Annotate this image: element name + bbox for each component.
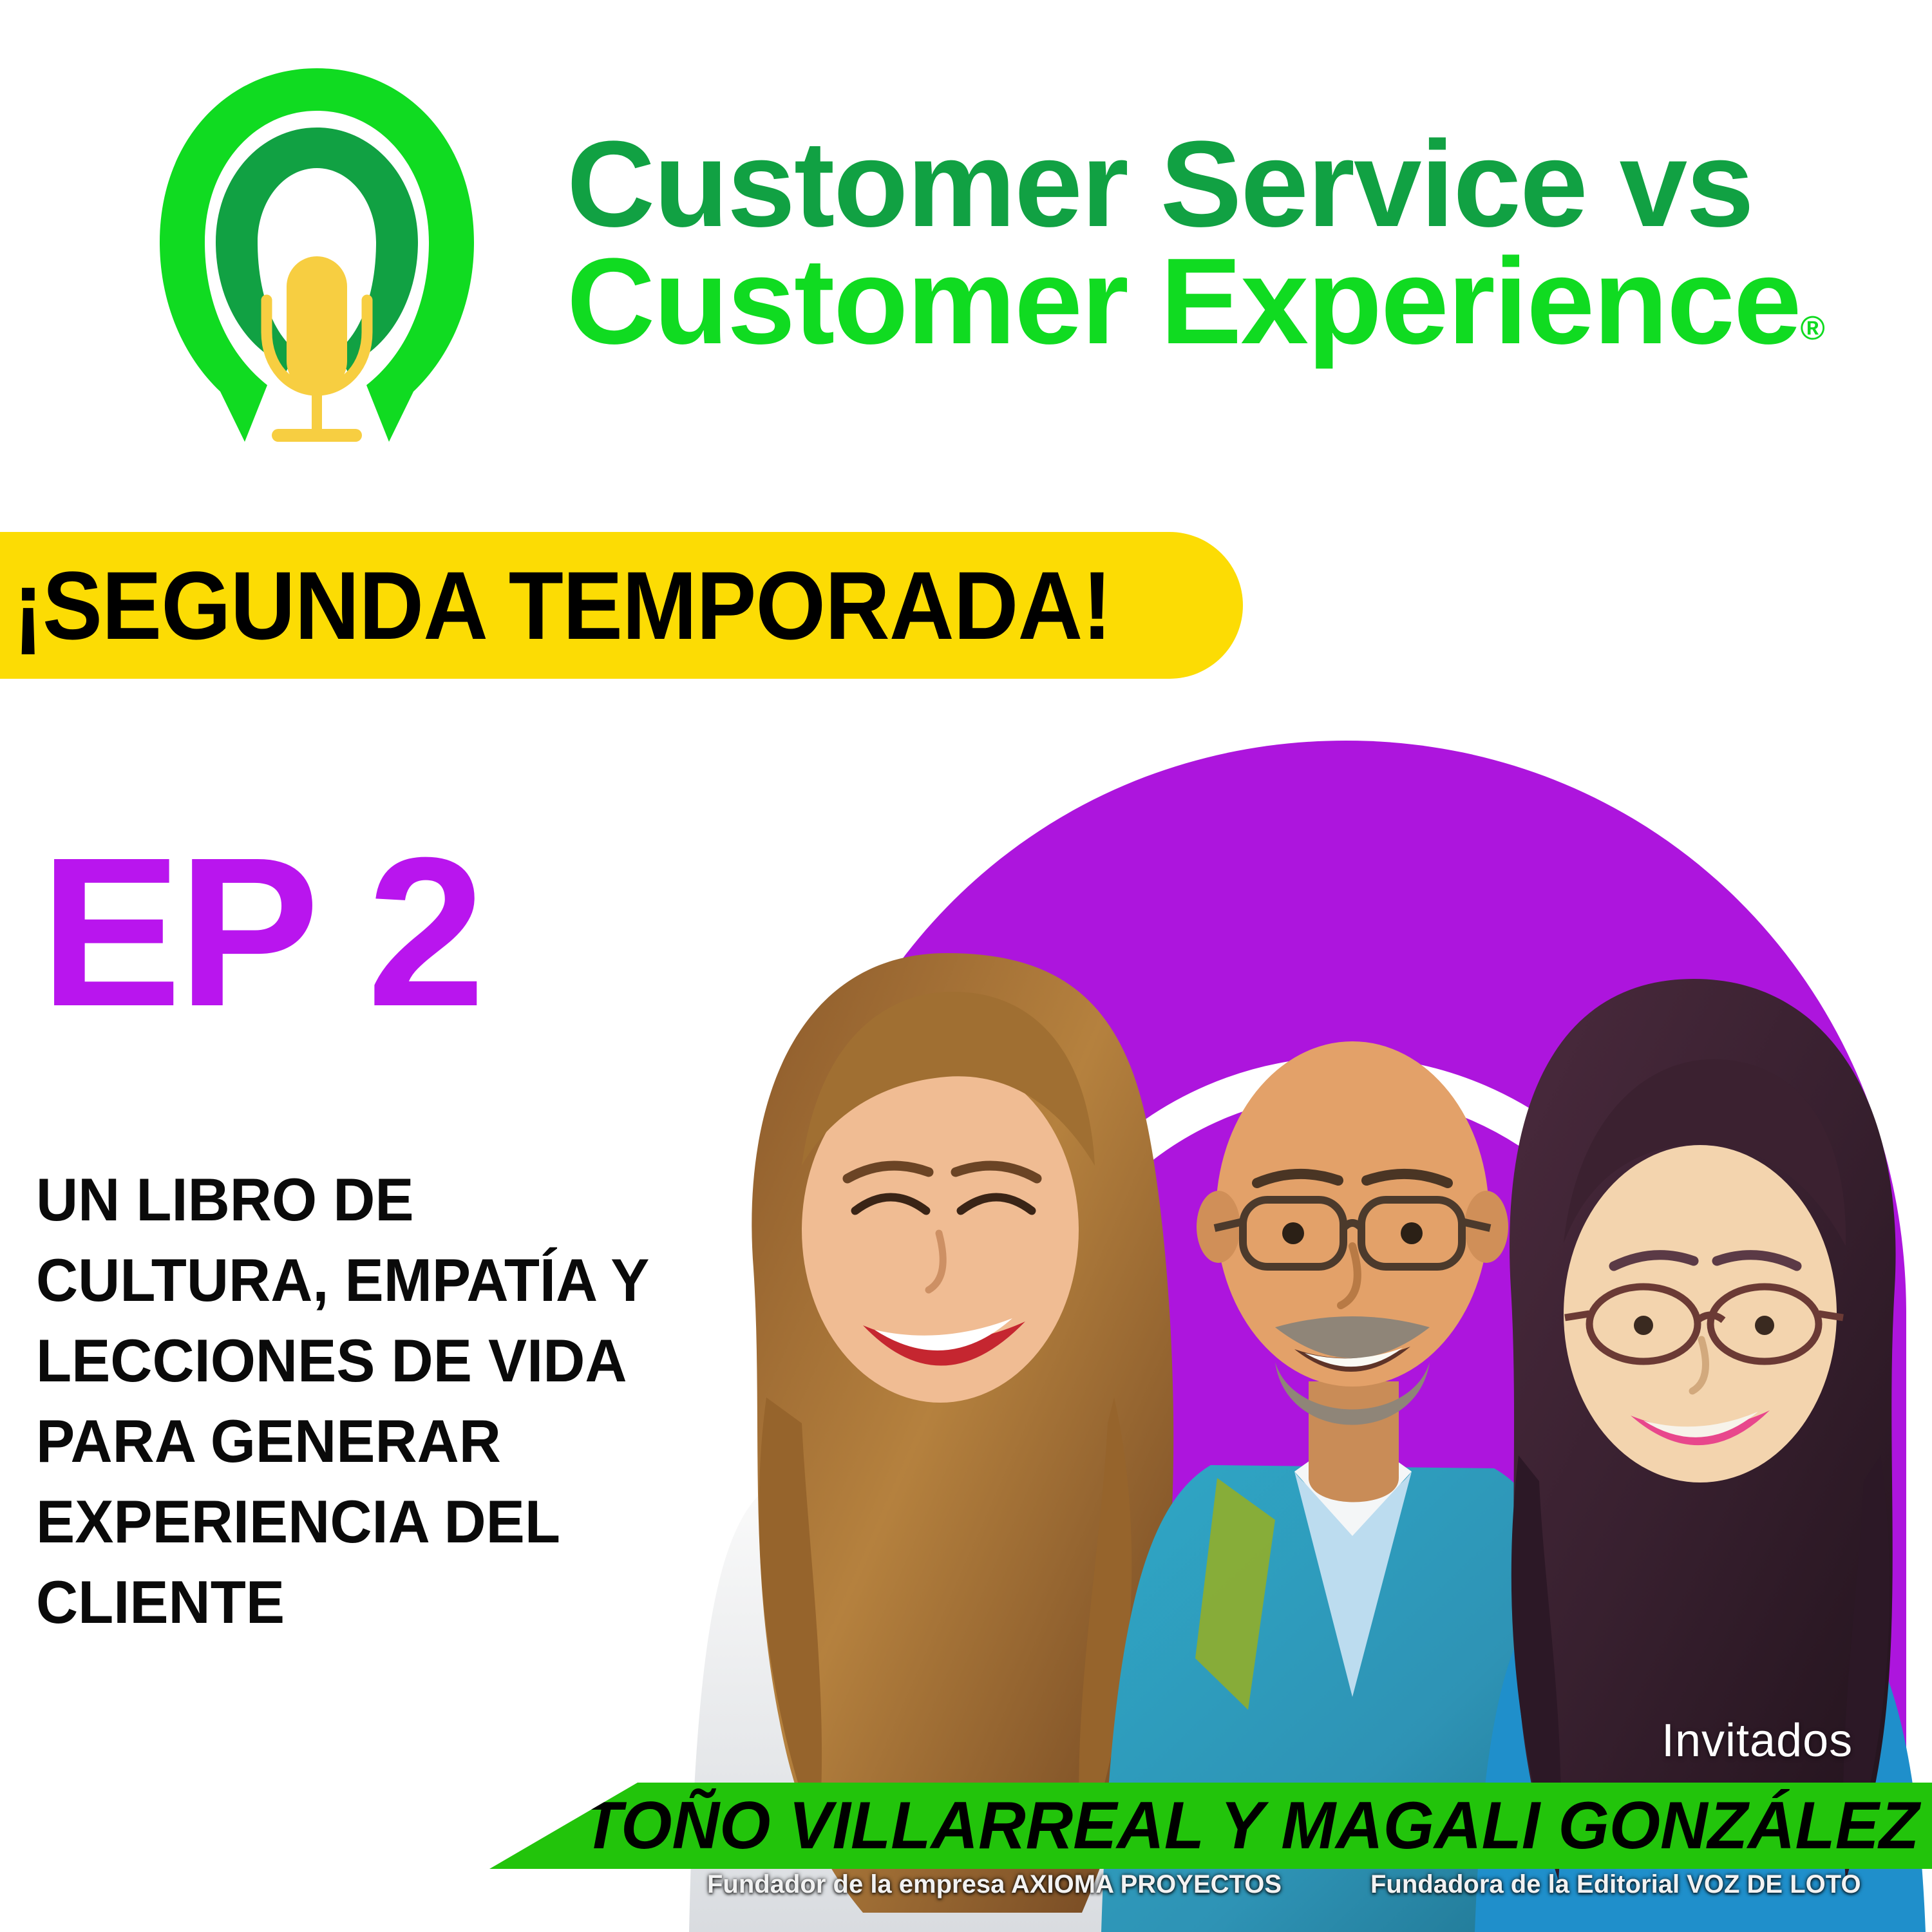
podcast-microphone-icon [149, 63, 484, 462]
guest-role-caption-1: Fundador de la empresa AXIOMA PROYECTOS [707, 1870, 1282, 1899]
guests-heading: Invitados [1662, 1714, 1853, 1767]
season-label: ¡SEGUNDA TEMPORADA! [0, 550, 1112, 661]
episode-number: EP 2 [40, 826, 481, 1038]
podcast-episode-cover: Customer Service vs Customer Experience®… [0, 0, 1932, 1932]
registered-trademark-icon: ® [1801, 310, 1825, 347]
brand-title-line-2: Customer Experience® [567, 243, 1919, 360]
cover-header: Customer Service vs Customer Experience® [0, 0, 1932, 515]
episode-description: UN LIBRO DE CULTURA, EMPATÍA Y LECCIONES… [36, 1159, 692, 1642]
season-banner: ¡SEGUNDA TEMPORADA! [0, 532, 1243, 679]
guest-names-text: TOÑO VILLARREAL Y MAGALI GONZÁLEZ [582, 1788, 1932, 1864]
brand-title-line-2-text: Customer Experience [567, 233, 1801, 370]
guest-names-banner: TOÑO VILLARREAL Y MAGALI GONZÁLEZ [489, 1783, 1932, 1869]
brand-title-line-1: Customer Service vs [567, 126, 1919, 243]
podcast-title: Customer Service vs Customer Experience® [567, 126, 1919, 361]
guest-role-caption-2: Fundadora de la Editorial VOZ DE LOTO [1370, 1870, 1861, 1899]
